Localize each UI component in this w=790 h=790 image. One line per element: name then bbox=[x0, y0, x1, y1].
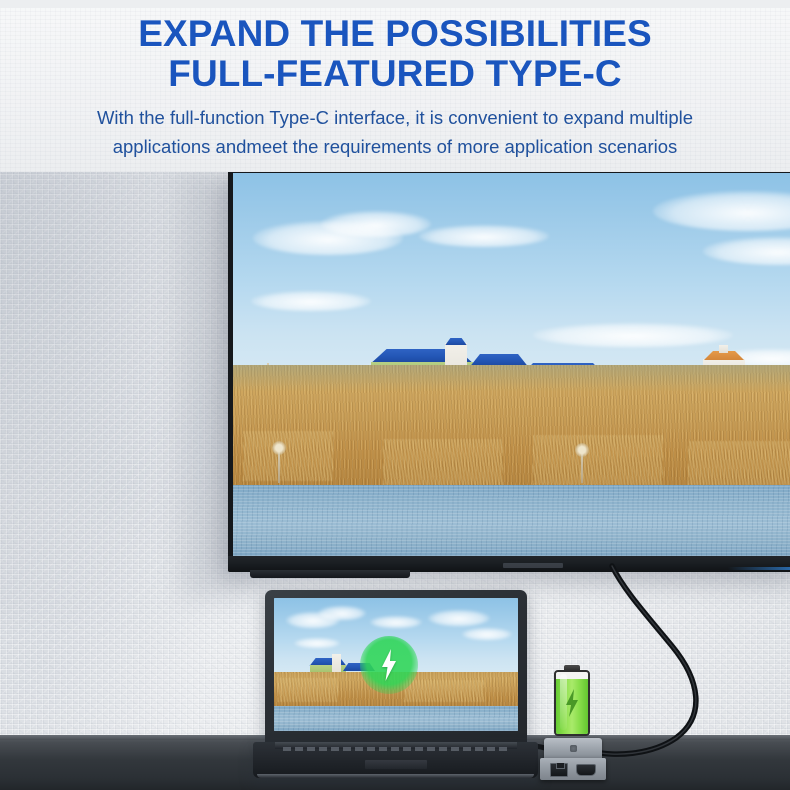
tv-screen bbox=[233, 173, 790, 556]
battery-charging-icon bbox=[552, 665, 592, 738]
photo-water bbox=[274, 706, 518, 731]
tv-status-led bbox=[728, 567, 790, 570]
laptop-landscape-photo bbox=[274, 598, 518, 731]
page-subtitle: With the full-function Type-C interface,… bbox=[0, 103, 790, 161]
laptop-front-lip bbox=[257, 774, 534, 778]
marker-post-head bbox=[272, 441, 286, 455]
cloud bbox=[462, 628, 512, 640]
subtitle-line-2: applications andmeet the requirements of… bbox=[0, 132, 790, 161]
photo-reeds-horizon bbox=[233, 365, 790, 392]
reed-tuft bbox=[688, 441, 790, 485]
laptop-lid bbox=[265, 590, 527, 745]
reed-tuft bbox=[533, 435, 663, 485]
cloud bbox=[321, 211, 431, 237]
marker-post-head bbox=[575, 443, 589, 457]
subtitle-line-1: With the full-function Type-C interface,… bbox=[0, 103, 790, 132]
reed-tuft bbox=[243, 431, 333, 481]
laptop bbox=[253, 590, 538, 786]
cloud bbox=[428, 610, 490, 626]
distant-villa-tower bbox=[719, 345, 728, 353]
reed-tuft bbox=[383, 439, 503, 485]
battery-body bbox=[554, 670, 590, 736]
cloud bbox=[251, 291, 371, 311]
banner-header: EXPAND THE POSSIBILITIES FULL-FEATURED T… bbox=[0, 0, 790, 172]
cloud bbox=[318, 606, 366, 620]
lightning-bolt-icon bbox=[378, 648, 400, 682]
hub-port-face bbox=[540, 758, 606, 780]
cloud bbox=[419, 225, 549, 247]
page-title: EXPAND THE POSSIBILITIES FULL-FEATURED T… bbox=[0, 14, 790, 94]
ethernet-port bbox=[550, 763, 568, 777]
header-top-mask bbox=[0, 0, 790, 8]
laptop-screen bbox=[274, 598, 518, 731]
reed-tuft bbox=[404, 680, 484, 702]
cloud bbox=[533, 323, 733, 347]
hdmi-port bbox=[576, 764, 596, 776]
hub-top-shell bbox=[544, 738, 602, 760]
battery-bolt-wrap bbox=[556, 672, 588, 734]
tv-stand-foot bbox=[250, 570, 410, 578]
television bbox=[228, 168, 790, 572]
title-line-1: EXPAND THE POSSIBILITIES bbox=[0, 14, 790, 54]
wall-shadow-left bbox=[0, 160, 210, 620]
product-scene bbox=[0, 160, 790, 790]
laptop-keyboard-edge bbox=[283, 747, 509, 751]
laptop-trackpad bbox=[365, 760, 427, 769]
lightning-bolt-icon bbox=[563, 688, 581, 718]
hub-indicator bbox=[570, 745, 577, 752]
charging-bolt-badge bbox=[360, 636, 418, 694]
tv-brand-mark bbox=[503, 563, 563, 568]
title-line-2: FULL-FEATURED TYPE-C bbox=[0, 54, 790, 94]
reed-tuft bbox=[278, 678, 338, 702]
photo-water bbox=[233, 485, 790, 556]
usb-c-docking-hub bbox=[538, 738, 608, 782]
cloud bbox=[370, 616, 422, 628]
tv-landscape-photo bbox=[233, 173, 790, 556]
cloud bbox=[294, 638, 340, 648]
product-banner: EXPAND THE POSSIBILITIES FULL-FEATURED T… bbox=[0, 0, 790, 790]
